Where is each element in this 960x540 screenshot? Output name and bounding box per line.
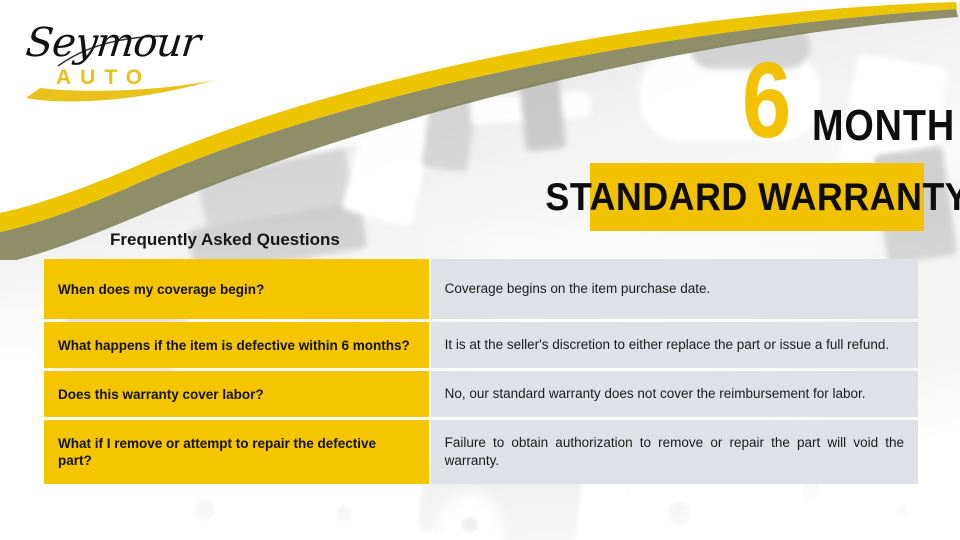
table-row: What happens if the item is defective wi… <box>44 322 918 368</box>
warranty-duration-unit: MONTH <box>812 104 955 148</box>
warranty-slide: Seymour AUTO 6 MONTH STANDARD WARRANTY F… <box>0 0 960 540</box>
warranty-duration-number: 6 <box>742 48 791 152</box>
faq-answer: Coverage begins on the item purchase dat… <box>431 259 918 319</box>
faq-heading: Frequently Asked Questions <box>110 230 340 250</box>
table-row: When does my coverage begin? Coverage be… <box>44 259 918 319</box>
faq-answer: No, our standard warranty does not cover… <box>431 371 918 417</box>
standard-warranty-banner: STANDARD WARRANTY <box>590 163 924 231</box>
faq-answer: It is at the seller's discretion to eith… <box>431 322 918 368</box>
faq-question: When does my coverage begin? <box>44 259 429 319</box>
faq-question: Does this warranty cover labor? <box>44 371 429 417</box>
faq-table: When does my coverage begin? Coverage be… <box>44 256 918 487</box>
table-row: Does this warranty cover labor? No, our … <box>44 371 918 417</box>
brand-logo[interactable]: Seymour AUTO <box>18 14 228 109</box>
standard-warranty-banner-text: STANDARD WARRANTY <box>545 178 960 217</box>
faq-question: What happens if the item is defective wi… <box>44 322 429 368</box>
table-row: What if I remove or attempt to repair th… <box>44 420 918 484</box>
faq-answer: Failure to obtain authorization to remov… <box>431 420 918 484</box>
faq-question: What if I remove or attempt to repair th… <box>44 420 429 484</box>
logo-swoosh-icon <box>18 14 228 109</box>
